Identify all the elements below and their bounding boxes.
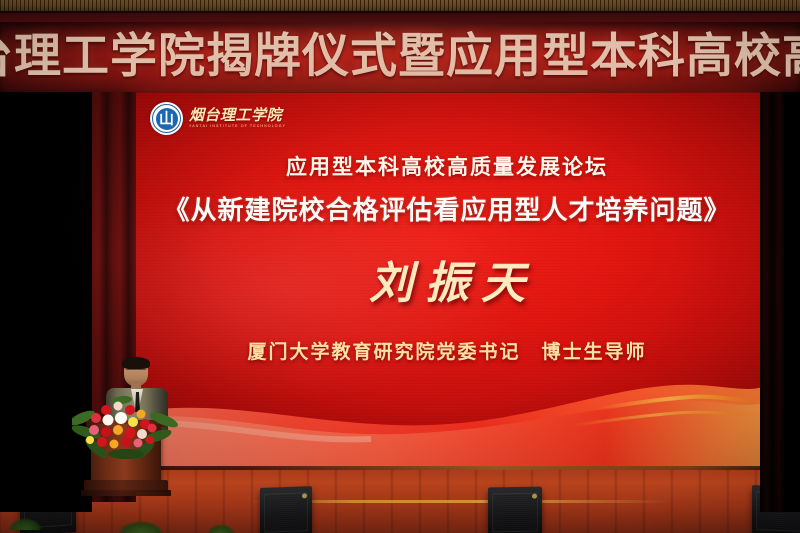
right-black-curtain — [784, 92, 800, 512]
stage-monitor-speaker — [260, 486, 312, 533]
speaker-title: 厦门大学教育研究院党委书记 博士生导师 — [131, 337, 763, 364]
led-backdrop-screen: 山 烟台理工学院 YANTAI INSTITUTE OF TECHNOLOGY … — [131, 93, 763, 471]
stage-monitor-speaker — [488, 487, 542, 533]
stage-photo-scene: 台理工学院揭牌仪式暨应用型本科高校高质量发展 山 烟台理工学院 YANTAI I… — [0, 0, 800, 533]
floral-arrangement-svg — [72, 392, 180, 460]
podium-plinth — [81, 490, 171, 496]
stage-plant — [206, 524, 236, 533]
lecture-title: 《从新建院校合格评估看应用型人才培养问题》 — [131, 190, 763, 227]
overhead-banner: 台理工学院揭牌仪式暨应用型本科高校高质量发展 — [0, 22, 800, 92]
ceiling-slats — [0, 0, 800, 14]
stage-plant — [8, 518, 42, 530]
foliage — [72, 395, 180, 460]
presenter-glasses — [126, 369, 146, 374]
overhead-banner-text: 台理工学院揭牌仪式暨应用型本科高校高质量发展 — [0, 26, 800, 88]
speaker-name: 刘振天 — [131, 247, 763, 311]
presenter-hair — [122, 357, 150, 369]
silk-ribbon-graphic — [131, 367, 763, 471]
forum-name: 应用型本科高校高质量发展论坛 — [131, 151, 763, 181]
led-text-block: 应用型本科高校高质量发展论坛 《从新建院校合格评估看应用型人才培养问题》 刘振天… — [131, 93, 763, 364]
silk-ribbon-svg — [131, 367, 763, 471]
stage-plant — [118, 521, 164, 533]
stage-cable — [250, 500, 670, 503]
floral-arrangement — [72, 392, 180, 460]
